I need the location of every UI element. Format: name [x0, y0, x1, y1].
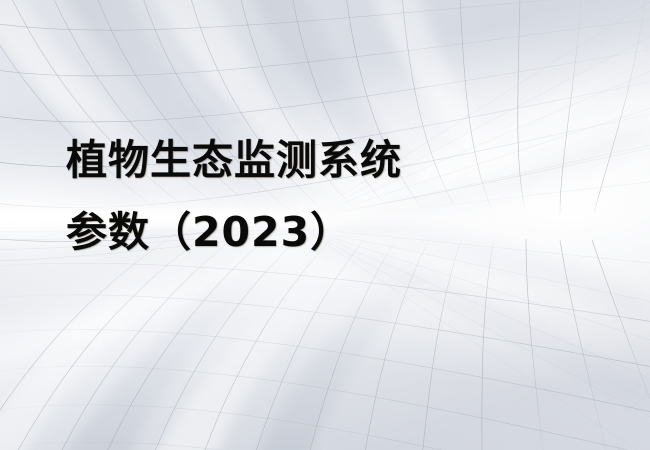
title-line-2: 参数（2023）: [66, 196, 626, 268]
slide-title: 植物生态监测系统 参数（2023）: [66, 124, 626, 268]
title-slide: 植物生态监测系统 参数（2023）: [0, 0, 650, 450]
title-line-1: 植物生态监测系统: [66, 124, 626, 196]
